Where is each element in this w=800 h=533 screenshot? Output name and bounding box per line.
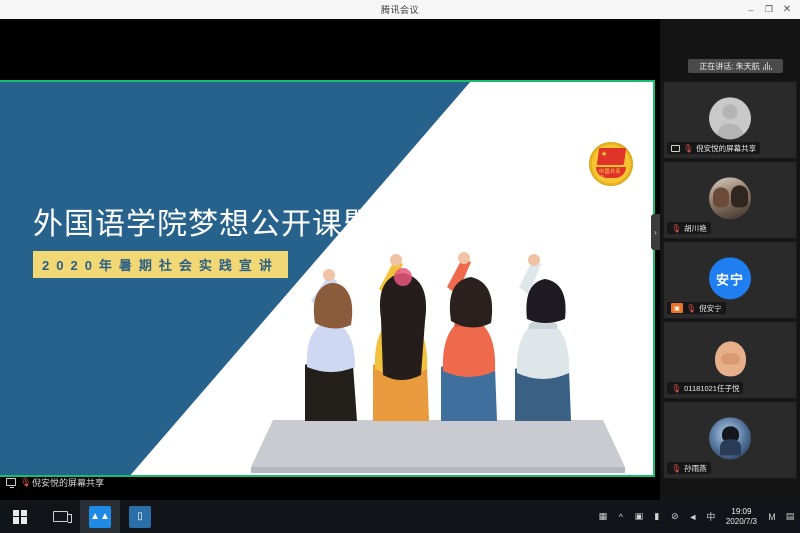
participant-name: 胡川艳 xyxy=(684,223,707,234)
system-tray: ▦ ^ ▣ ▮ ⊘ ◄ 中 19:09 2020/7/3 M ▤ xyxy=(597,500,796,533)
minimize-button[interactable]: – xyxy=(742,0,760,19)
meeting-app-icon: ▲▲ xyxy=(89,506,111,528)
taskbar-left-group: ▲▲ ▯ xyxy=(0,500,160,533)
participant-tile-5[interactable]: 🎙 孙雨燕 xyxy=(663,401,797,479)
emblem-ring-text: 中国共青团 xyxy=(599,168,626,182)
tray-volume-icon[interactable]: ◄ xyxy=(687,510,699,524)
active-speaker-label: 正在讲话: 朱天航 xyxy=(699,61,759,72)
participant-name: 倪安宁 xyxy=(699,303,722,314)
shared-screen-frame[interactable]: 外国语学院梦想公开课暨 2020年暑期社会实践宣讲 ★ 中国共青团 xyxy=(0,80,655,477)
mic-muted-icon: 🎙 xyxy=(671,464,681,473)
screen-root: 腾讯会议 – ❐ ✕ xyxy=(0,0,800,533)
screen-share-owner-label: 倪安悦的屏幕共享 xyxy=(32,476,104,489)
slide-title: 外国语学院梦想公开课暨 xyxy=(33,199,374,243)
emblem-ring: 中国共青团 xyxy=(596,167,626,178)
taskbar-clock[interactable]: 19:09 2020/7/3 xyxy=(723,507,760,525)
windows-taskbar: ▲▲ ▯ ▦ ^ ▣ ▮ ⊘ ◄ 中 19:09 2020/7/3 M ▤ xyxy=(0,500,800,533)
audio-wave-icon xyxy=(763,62,772,70)
close-button[interactable]: ✕ xyxy=(778,0,796,19)
participant-tile-1[interactable]: 🎙 倪安悦的屏幕共享 xyxy=(663,81,797,159)
task-view-button[interactable] xyxy=(40,500,80,533)
avatar: 安宁 xyxy=(709,257,751,299)
task-view-icon xyxy=(53,511,68,522)
participant-name-bar: 🎙 胡川艳 xyxy=(667,222,711,234)
collapse-panel-handle[interactable]: › xyxy=(651,214,660,250)
input-indicator-icon[interactable]: M xyxy=(766,510,778,524)
action-center-icon[interactable]: ▤ xyxy=(784,510,796,524)
tray-battery-icon[interactable]: ▮ xyxy=(651,510,663,524)
participant-name-bar: ▣ 🎙 倪安宁 xyxy=(667,302,726,314)
windows-start-icon xyxy=(13,510,27,524)
avatar xyxy=(709,337,751,379)
clock-date: 2020/7/3 xyxy=(726,517,757,526)
shared-screen-stage: 外国语学院梦想公开课暨 2020年暑期社会实践宣讲 ★ 中国共青团 › 🎙 倪安… xyxy=(0,19,660,500)
mic-muted-icon: 🎙 xyxy=(683,144,693,153)
maximize-button[interactable]: ❐ xyxy=(760,0,778,19)
participant-name-bar: 🎙 孙雨燕 xyxy=(667,462,711,474)
screen-share-notice: 🎙 倪安悦的屏幕共享 xyxy=(0,474,660,490)
mic-muted-icon: 🎙 xyxy=(686,304,696,313)
tray-app-icon[interactable]: ▣ xyxy=(633,510,645,524)
mic-muted-icon: 🎙 xyxy=(671,224,681,233)
participant-name-bar: 🎙 倪安悦的屏幕共享 xyxy=(667,142,760,154)
window-titlebar: 腾讯会议 – ❐ ✕ xyxy=(0,0,800,19)
avatar xyxy=(709,177,751,219)
window-title: 腾讯会议 xyxy=(381,3,419,16)
participant-rail: 正在讲话: 朱天航 🎙 倪安悦的屏幕共享 🎙 胡川艳 xyxy=(660,19,800,500)
monitor-icon xyxy=(6,478,16,486)
meeting-window: 外国语学院梦想公开课暨 2020年暑期社会实践宣讲 ★ 中国共青团 › 🎙 倪安… xyxy=(0,19,800,500)
participant-name: 倪安悦的屏幕共享 xyxy=(696,143,756,154)
mic-muted-icon: 🎙 xyxy=(671,384,681,393)
taskbar-app-meeting[interactable]: ▲▲ xyxy=(80,500,120,533)
participant-name: 01181021任子悦 xyxy=(684,383,739,394)
slide-subtitle: 2020年暑期社会实践宣讲 xyxy=(33,251,288,278)
presentation-slide: 外国语学院梦想公开课暨 2020年暑期社会实践宣讲 ★ 中国共青团 xyxy=(0,82,653,475)
active-speaker-banner: 正在讲话: 朱天航 xyxy=(688,59,783,73)
screen-share-badge-icon: ▣ xyxy=(671,303,683,313)
participant-name: 孙雨燕 xyxy=(684,463,707,474)
emblem-star-icon: ★ xyxy=(601,151,607,158)
avatar xyxy=(709,417,751,459)
tray-overflow-icon[interactable]: ^ xyxy=(615,510,627,524)
tray-grid-icon[interactable]: ▦ xyxy=(597,510,609,524)
taskbar-app-browser[interactable]: ▯ xyxy=(120,500,160,533)
participant-tile-2[interactable]: 🎙 胡川艳 xyxy=(663,161,797,239)
participant-tile-4[interactable]: 🎙 01181021任子悦 xyxy=(663,321,797,399)
tray-network-icon[interactable]: ⊘ xyxy=(669,510,681,524)
browser-app-icon: ▯ xyxy=(129,506,151,528)
participant-name-bar: 🎙 01181021任子悦 xyxy=(667,382,743,394)
start-button[interactable] xyxy=(0,500,40,533)
avatar xyxy=(709,97,751,139)
window-controls: – ❐ ✕ xyxy=(742,0,796,19)
clock-time: 19:09 xyxy=(731,507,751,516)
monitor-icon xyxy=(671,145,680,152)
youth-league-emblem-icon: ★ 中国共青团 xyxy=(589,142,633,186)
students-illustration xyxy=(233,215,653,475)
participant-tile-3[interactable]: 安宁 ▣ 🎙 倪安宁 xyxy=(663,241,797,319)
tray-ime-icon[interactable]: 中 xyxy=(705,510,717,524)
mic-muted-icon: 🎙 xyxy=(20,478,28,487)
